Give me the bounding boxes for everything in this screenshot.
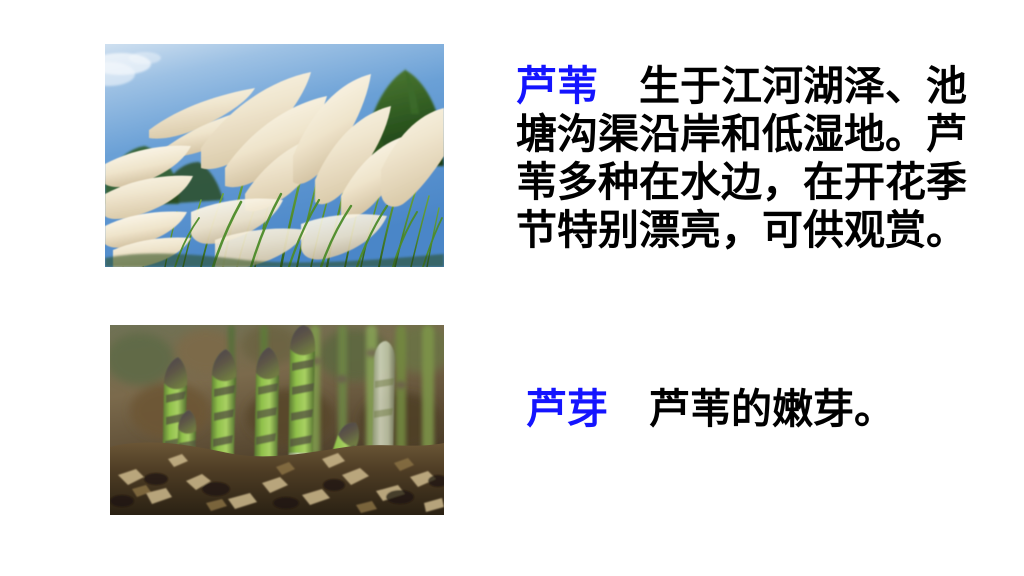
sprout-definition-paragraph: 芦芽 芦苇的嫩芽。: [526, 385, 956, 433]
term-sprout: 芦芽: [526, 385, 608, 433]
reed-sprouts-photo: [110, 325, 444, 515]
reed-definition-paragraph: 芦苇 生于江河湖泽、池塘沟渠沿岸和低湿地。芦苇多种在水边，在开花季节特别漂亮，可…: [516, 62, 968, 254]
slide-canvas: 芦苇 生于江河湖泽、池塘沟渠沿岸和低湿地。芦苇多种在水边，在开花季节特别漂亮，可…: [0, 0, 1024, 576]
reed-plumes-photo: [105, 44, 444, 267]
term-reed: 芦苇: [516, 62, 598, 110]
sprout-definition-text: 芦苇的嫩芽。: [608, 385, 895, 433]
